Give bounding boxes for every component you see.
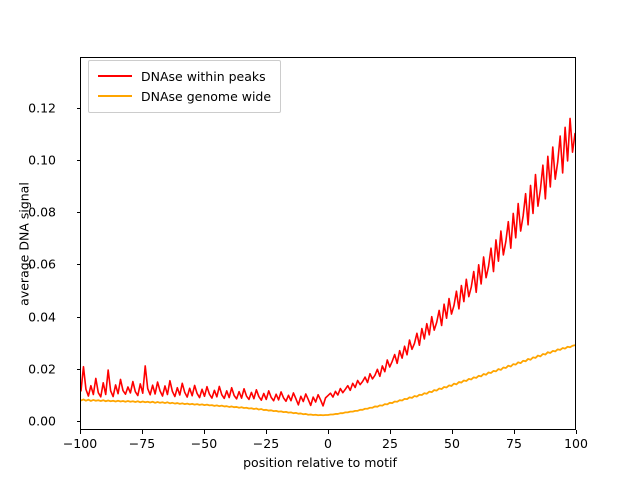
x-tick-label: −25 [253,436,279,451]
legend-item-dnase-genome-wide[interactable]: DNAse genome wide [98,86,271,106]
legend-label-dnase-genome-wide: DNAse genome wide [141,89,271,104]
x-tick-label: −100 [63,436,97,451]
x-tick-label: 50 [444,436,460,451]
y-tick-mark [77,317,81,318]
y-tick-mark [77,369,81,370]
x-tick-mark [514,430,515,434]
legend-item-dnase-within-peaks[interactable]: DNAse within peaks [98,66,271,86]
x-tick-label: 100 [564,436,588,451]
x-tick-mark [204,430,205,434]
y-tick-mark [77,160,81,161]
x-tick-label: −50 [191,436,217,451]
x-axis-label: position relative to motif [0,455,640,470]
y-axis-label: average DNA signal [17,182,32,306]
legend-label-dnase-within-peaks: DNAse within peaks [141,69,266,84]
legend-swatch-red [98,75,132,77]
legend[interactable]: DNAse within peaks DNAse genome wide [88,60,281,113]
x-tick-mark [80,430,81,434]
y-tick-mark [77,264,81,265]
legend-swatch-orange [98,95,132,97]
y-tick-mark [77,212,81,213]
x-tick-mark [576,430,577,434]
x-tick-label: 0 [324,436,332,451]
x-tick-mark [266,430,267,434]
x-tick-mark [452,430,453,434]
x-tick-mark [390,430,391,434]
y-tick-mark [77,108,81,109]
y-axis-label-wrap: average DNA signal [14,57,34,430]
y-tick-mark [77,421,81,422]
x-tick-label: 25 [382,436,398,451]
series-line-dnase-within-peaks [81,118,575,405]
x-tick-mark [142,430,143,434]
x-tick-mark [328,430,329,434]
plot-lines [81,58,575,429]
x-tick-label: 75 [506,436,522,451]
series-line-dnase-genome-wide [81,345,575,415]
figure-canvas: DNAse within peaks DNAse genome wide −10… [0,0,640,480]
x-tick-label: −75 [129,436,155,451]
